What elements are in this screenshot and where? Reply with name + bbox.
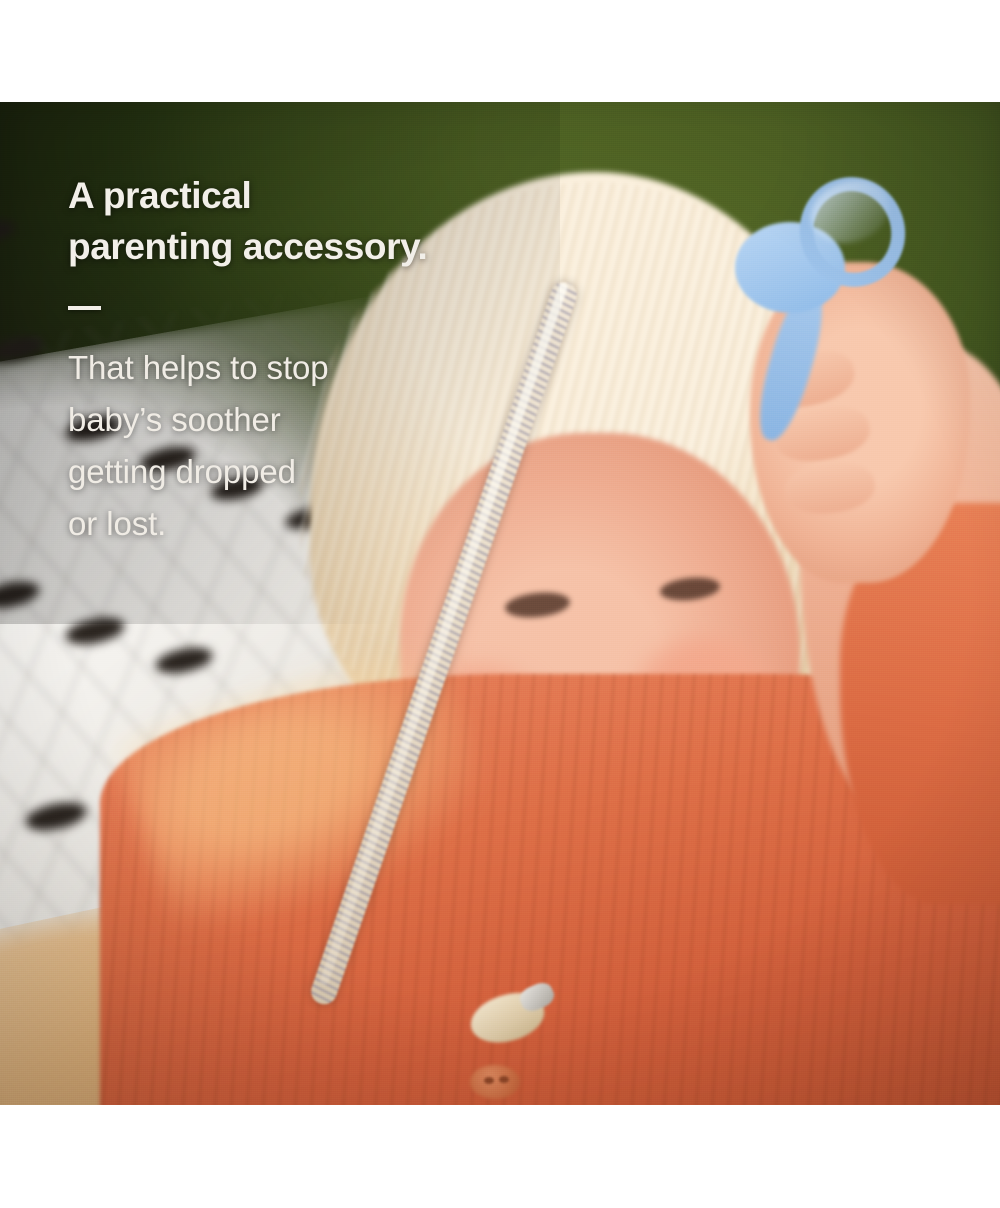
product-lifestyle-photo: [0, 102, 1000, 1105]
shirt-button: [470, 1065, 520, 1099]
slide-root: A practical parenting accessory. That he…: [0, 0, 1000, 1208]
shirt-button-hole: [484, 1077, 494, 1084]
shirt-button-hole: [499, 1076, 509, 1083]
